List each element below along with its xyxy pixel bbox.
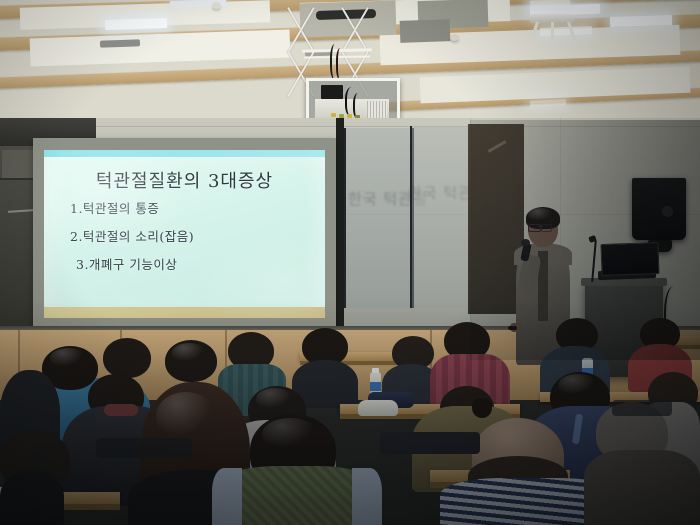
presenter-remote [508,326,517,330]
bottle-label [370,382,381,391]
slide-bullet-2: 2.턱관절의 소리(잡음) [70,226,194,245]
attendee-head-back [103,338,151,378]
chair-back [380,432,480,454]
dress-shirt-left [212,468,242,525]
laptop-screen [600,242,659,276]
speaker-cone [662,206,673,217]
microphone-grille [521,239,530,246]
projector-connector [331,113,336,117]
air-vent [100,39,140,47]
ceiling-camera-mount [530,14,576,54]
slide-content: 턱관절질환의 3대증상 1.턱관절의 통증 2.턱관절의 소리(잡음) 3.개폐… [44,150,325,318]
projector-lens-block [321,85,343,99]
glass-panel: 한국 턱관절 [410,126,472,308]
wall-speaker [632,178,686,240]
slide-title: 턱관절질환의 3대증상 [44,167,325,193]
plastic-bag [358,400,398,416]
slide-bullet-1: 1.턱관절의 통증 [70,198,159,217]
attendee-hair-bun [472,398,492,418]
podium-top [581,278,667,286]
slide-bottom-bar [44,307,325,318]
dress-shirt-right [352,468,382,525]
wall-dark-column [336,118,344,333]
slide-top-bar [44,150,325,157]
presenter-glasses-right-lens [541,224,552,232]
mount-leg [551,22,554,52]
presenter-glasses-bridge [538,226,542,227]
slide-bullet-3: 3.개폐구 기능이상 [76,254,177,273]
chair-back [612,400,672,416]
smoke-detector [450,34,459,41]
lecture-hall-photo: 한국 턱관절 한국 턱관절 턱관절질환의 3대증상 1.턱관절의 통증 2.턱관… [0,0,700,525]
collar [104,404,138,416]
glass-panel: 한국 턱관절 [344,128,414,308]
attendee-body-front-right [584,450,700,525]
bottle-cap [372,368,379,373]
attendee-body-front-left [0,470,64,525]
projector-cable [336,48,346,80]
smoke-detector [212,2,221,9]
chair-back [96,438,192,458]
